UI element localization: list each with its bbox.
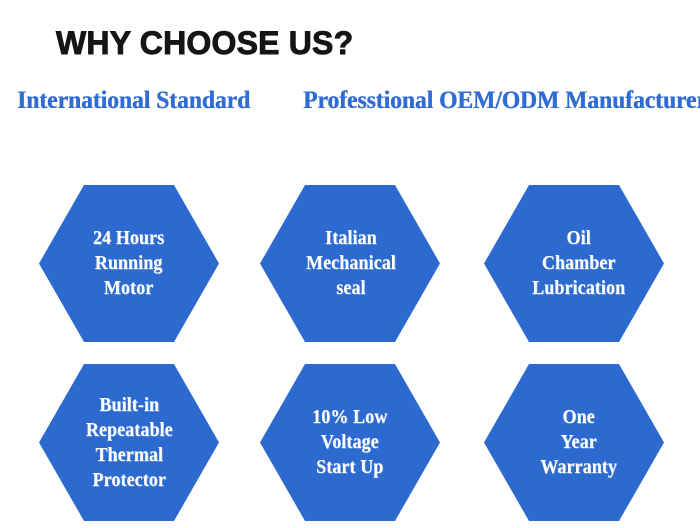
feature-label: Built-in Repeatable Thermal Protector <box>82 393 176 493</box>
feature-label: One Year Warranty <box>537 405 621 480</box>
feature-hexagon-one-year-warranty: One Year Warranty <box>484 364 664 521</box>
feature-hexagon-24-hours-running-motor: 24 Hours Running Motor <box>39 185 219 342</box>
feature-label: 10% Low Voltage Start Up <box>309 405 391 480</box>
page-title: WHY CHOOSE US? <box>56 21 676 65</box>
slide-canvas: WHY CHOOSE US? International Standard Pr… <box>0 0 700 528</box>
column-heading-professional-oem-odm: Professtional OEM/ODM Manufacturer <box>303 86 700 116</box>
feature-hexagon-italian-mechanical-seal: Italian Mechanical seal <box>260 185 440 342</box>
column-heading-international-standard: International Standard <box>17 86 250 116</box>
feature-hexagon-built-in-repeatable-thermal-protector: Built-in Repeatable Thermal Protector <box>39 364 219 521</box>
feature-hexagon-10-percent-low-voltage-start-up: 10% Low Voltage Start Up <box>260 364 440 521</box>
feature-label: Oil Chamber Lubrication <box>529 226 629 301</box>
feature-hexagon-oil-chamber-lubrication: Oil Chamber Lubrication <box>484 185 664 342</box>
feature-hexagon-grid: 24 Hours Running Motor Italian Mechanica… <box>0 175 700 528</box>
feature-label: 24 Hours Running Motor <box>90 226 168 301</box>
feature-label: Italian Mechanical seal <box>302 226 399 301</box>
